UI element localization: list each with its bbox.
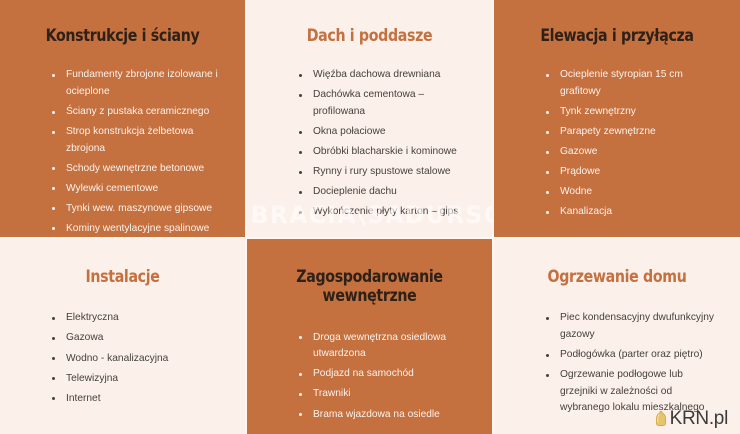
list-item: Kanalizacja bbox=[546, 204, 718, 221]
list-item: Obróbki blacharskie i kominowe bbox=[299, 144, 470, 161]
panel-title: Konstrukcje i ściany bbox=[36, 26, 209, 45]
list-item: Wykończenie płyty karton – gips bbox=[299, 204, 470, 221]
panel-instalacje: Instalacje Elektryczna Gazowa Wodno - ka… bbox=[0, 239, 247, 434]
panel-list: Więźba dachowa drewniana Dachówka cement… bbox=[269, 67, 470, 220]
list-item: Trawniki bbox=[299, 386, 470, 403]
panel-title: Dach i poddasze bbox=[283, 26, 456, 45]
list-item: Kominy wentylacyjne spalinowe bbox=[52, 221, 223, 238]
list-item: Strop konstrukcja żelbetowa zbrojona bbox=[52, 124, 223, 157]
list-item: Wylewki cementowe bbox=[52, 181, 223, 198]
list-item: Brama wjazdowa na osiedle bbox=[299, 407, 470, 424]
panel-list: Piec kondensacyjny dwufunkcyjny gazowy P… bbox=[516, 310, 718, 416]
panel-elewacja-i-przylacza: Elewacja i przyłącza Ocieplenie styropia… bbox=[494, 0, 740, 239]
list-item: Telewizyjna bbox=[52, 371, 223, 388]
panel-title: Elewacja i przyłącza bbox=[530, 26, 704, 45]
list-item: Dachówka cementowa – profilowana bbox=[299, 87, 470, 120]
list-item: Ściany z pustaka ceramicznego bbox=[52, 104, 223, 121]
krn-bell-icon bbox=[654, 410, 668, 428]
list-item: Ocieplenie styropian 15 cm grafitowy bbox=[546, 67, 718, 100]
list-item: Internet bbox=[52, 391, 223, 408]
list-item: Tynki wew. maszynowe gipsowe bbox=[52, 201, 223, 218]
panel-list: Fundamenty zbrojone izolowane i ocieplon… bbox=[22, 67, 223, 237]
panel-dach-i-poddasze: Dach i poddasze Więźba dachowa drewniana… bbox=[247, 0, 494, 239]
panel-title-wrap: Konstrukcje i ściany bbox=[22, 26, 223, 45]
list-item: Elektryczna bbox=[52, 310, 223, 327]
panel-list: Elektryczna Gazowa Wodno - kanalizacyjna… bbox=[22, 310, 223, 407]
list-item: Rynny i rury spustowe stalowe bbox=[299, 164, 470, 181]
list-item: Okna połaciowe bbox=[299, 124, 470, 141]
list-item: Docieplenie dachu bbox=[299, 184, 470, 201]
panel-title-wrap: Elewacja i przyłącza bbox=[516, 26, 718, 45]
panel-title: Instalacje bbox=[36, 267, 209, 286]
krn-logo-text: KRN.pl bbox=[670, 409, 728, 428]
list-item: Fundamenty zbrojone izolowane i ocieplon… bbox=[52, 67, 223, 100]
property-standard-infographic: Konstrukcje i ściany Fundamenty zbrojone… bbox=[0, 0, 740, 434]
list-item: Schody wewnętrzne betonowe bbox=[52, 161, 223, 178]
panel-zagospodarowanie-wewnetrzne: Zagospodarowanie wewnętrzne Droga wewnęt… bbox=[247, 239, 494, 434]
panel-konstrukcje-i-sciany: Konstrukcje i ściany Fundamenty zbrojone… bbox=[0, 0, 247, 239]
list-item: Podjazd na samochód bbox=[299, 366, 470, 383]
panel-title-wrap: Zagospodarowanie wewnętrzne bbox=[269, 267, 470, 306]
panel-list: Ocieplenie styropian 15 cm grafitowy Tyn… bbox=[516, 67, 718, 220]
panel-title: Ogrzewanie domu bbox=[530, 267, 704, 286]
panel-ogrzewanie-domu: Ogrzewanie domu Piec kondensacyjny dwufu… bbox=[494, 239, 740, 434]
panel-title: Zagospodarowanie wewnętrzne bbox=[283, 267, 456, 306]
list-item: Tynk zewnętrzny bbox=[546, 104, 718, 121]
panel-title-wrap: Dach i poddasze bbox=[269, 26, 470, 45]
list-item: Piec kondensacyjny dwufunkcyjny gazowy bbox=[546, 310, 718, 343]
list-item: Gazowa bbox=[52, 330, 223, 347]
panel-list: Droga wewnętrzna osiedlowa utwardzona Po… bbox=[269, 330, 470, 423]
list-item: Więźba dachowa drewniana bbox=[299, 67, 470, 84]
list-item: Podłogówka (parter oraz piętro) bbox=[546, 347, 718, 364]
krn-logo: KRN.pl bbox=[654, 409, 728, 428]
list-item: Wodno - kanalizacyjna bbox=[52, 351, 223, 368]
panel-title-wrap: Ogrzewanie domu bbox=[516, 267, 718, 286]
list-item: Wodne bbox=[546, 184, 718, 201]
list-item: Parapety zewnętrzne bbox=[546, 124, 718, 141]
list-item: Gazowe bbox=[546, 144, 718, 161]
panel-title-wrap: Instalacje bbox=[22, 267, 223, 286]
list-item: Droga wewnętrzna osiedlowa utwardzona bbox=[299, 330, 470, 363]
list-item: Prądowe bbox=[546, 164, 718, 181]
